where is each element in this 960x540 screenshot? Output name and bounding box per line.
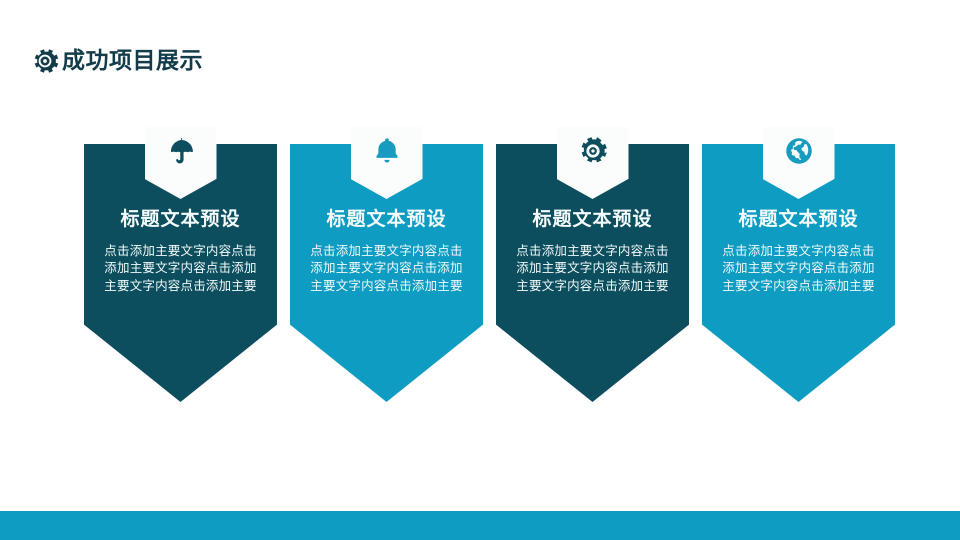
cards-row: 标题文本预设 点击添加主要文字内容点击 添加主要文字内容点击添加 主要文字内容点… <box>84 127 894 402</box>
card-item[interactable]: 标题文本预设 点击添加主要文字内容点击 添加主要文字内容点击添加 主要文字内容点… <box>496 127 689 402</box>
card-title: 标题文本预设 <box>88 209 273 230</box>
card-body-line: 点击添加主要文字内容点击 <box>294 242 479 260</box>
card-item[interactable]: 标题文本预设 点击添加主要文字内容点击 添加主要文字内容点击添加 主要文字内容点… <box>290 127 483 402</box>
bell-icon <box>372 136 402 166</box>
card-body-line: 主要文字内容点击添加主要 <box>294 277 479 295</box>
card-body-line: 点击添加主要文字内容点击 <box>706 242 891 260</box>
card-body-line: 主要文字内容点击添加主要 <box>500 277 685 295</box>
card-title: 标题文本预设 <box>500 209 685 230</box>
card-text: 标题文本预设 点击添加主要文字内容点击 添加主要文字内容点击添加 主要文字内容点… <box>496 209 689 294</box>
gear-icon <box>578 136 608 166</box>
card-body: 点击添加主要文字内容点击 添加主要文字内容点击添加 主要文字内容点击添加主要 <box>500 242 685 295</box>
umbrella-icon <box>166 136 196 166</box>
card-item[interactable]: 标题文本预设 点击添加主要文字内容点击 添加主要文字内容点击添加 主要文字内容点… <box>702 127 895 402</box>
bottom-accent-bar <box>0 511 960 540</box>
page-title: 成功项目展示 <box>62 50 203 73</box>
card-body: 点击添加主要文字内容点击 添加主要文字内容点击添加 主要文字内容点击添加主要 <box>706 242 891 295</box>
card-text: 标题文本预设 点击添加主要文字内容点击 添加主要文字内容点击添加 主要文字内容点… <box>290 209 483 294</box>
card-body-line: 添加主要文字内容点击添加 <box>88 259 273 277</box>
card-body-line: 主要文字内容点击添加主要 <box>706 277 891 295</box>
card-title: 标题文本预设 <box>294 209 479 230</box>
globe-icon <box>784 136 814 166</box>
page-header: 成功项目展示 <box>30 46 203 76</box>
card-text: 标题文本预设 点击添加主要文字内容点击 添加主要文字内容点击添加 主要文字内容点… <box>702 209 895 294</box>
gear-icon <box>30 46 60 76</box>
card-body-line: 添加主要文字内容点击添加 <box>706 259 891 277</box>
card-body-line: 添加主要文字内容点击添加 <box>500 259 685 277</box>
card-body-line: 添加主要文字内容点击添加 <box>294 259 479 277</box>
card-item[interactable]: 标题文本预设 点击添加主要文字内容点击 添加主要文字内容点击添加 主要文字内容点… <box>84 127 277 402</box>
card-body: 点击添加主要文字内容点击 添加主要文字内容点击添加 主要文字内容点击添加主要 <box>88 242 273 295</box>
card-body-line: 主要文字内容点击添加主要 <box>88 277 273 295</box>
card-body: 点击添加主要文字内容点击 添加主要文字内容点击添加 主要文字内容点击添加主要 <box>294 242 479 295</box>
card-body-line: 点击添加主要文字内容点击 <box>500 242 685 260</box>
card-text: 标题文本预设 点击添加主要文字内容点击 添加主要文字内容点击添加 主要文字内容点… <box>84 209 277 294</box>
card-title: 标题文本预设 <box>706 209 891 230</box>
card-body-line: 点击添加主要文字内容点击 <box>88 242 273 260</box>
